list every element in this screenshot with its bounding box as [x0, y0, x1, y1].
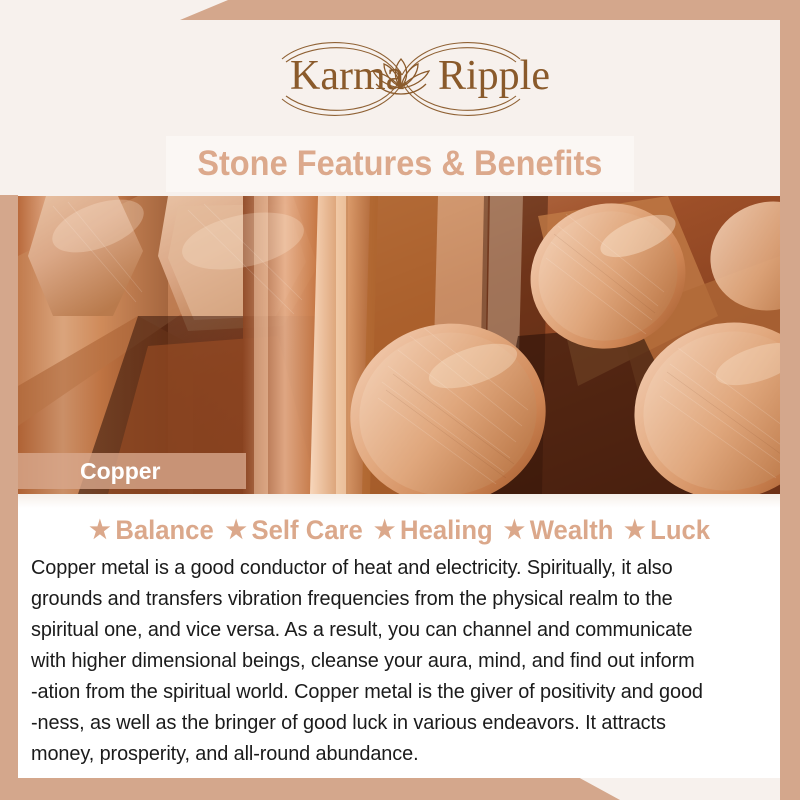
feature-label: Self Care [251, 515, 362, 546]
features-row: ★ Balance ★ Self Care ★ Healing ★ Wealth… [18, 508, 780, 552]
frame-bottom-diagonal [0, 778, 620, 800]
feature-self-care: ★ Self Care [221, 515, 363, 546]
description-line: spiritual one, and vice versa. As a resu… [31, 614, 749, 645]
feature-label: Luck [650, 515, 710, 546]
frame-top-diagonal [0, 0, 800, 20]
feature-label: Balance [115, 515, 213, 546]
photo-artwork [18, 196, 780, 494]
frame-left-border [0, 195, 18, 785]
feature-wealth: ★ Wealth [499, 515, 613, 546]
feature-label: Healing [400, 515, 493, 546]
copper-bars-photo [18, 196, 780, 494]
star-icon: ★ [89, 518, 110, 543]
feature-healing: ★ Healing [370, 515, 493, 546]
brand-name-right: Ripple [438, 53, 550, 99]
description-line: -ness, as well as the bringer of good lu… [31, 707, 749, 738]
description-line: grounds and transfers vibration frequenc… [31, 583, 749, 614]
panel-top-fade [18, 494, 780, 508]
description-line: -ation from the spiritual world. Copper … [31, 676, 749, 707]
photo-caption-label: Copper [18, 458, 161, 485]
content-panel: ★ Balance ★ Self Care ★ Healing ★ Wealth… [18, 494, 780, 778]
feature-luck: ★ Luck [619, 515, 710, 546]
star-icon: ★ [374, 518, 395, 543]
feature-balance: ★ Balance [89, 515, 213, 546]
star-icon: ★ [624, 518, 645, 543]
title-banner: Stone Features & Benefits [166, 136, 634, 192]
brand-logo: Karma Ripple [0, 24, 800, 134]
star-icon: ★ [225, 518, 246, 543]
star-icon: ★ [504, 518, 525, 543]
description-line: Copper metal is a good conductor of heat… [31, 552, 749, 583]
description-text: Copper metal is a good conductor of heat… [31, 552, 771, 769]
brand-name-left: Karma [290, 53, 405, 99]
description-line: money, prosperity, and all-round abundan… [31, 738, 749, 769]
photo-caption-bar: Copper [18, 453, 246, 489]
page-title: Stone Features & Benefits [197, 144, 602, 184]
logo-artwork: Karma Ripple [190, 29, 610, 129]
feature-label: Wealth [530, 515, 614, 546]
description-line: with higher dimensional beings, cleanse … [31, 645, 749, 676]
infographic-page: Karma Ripple Stone Features & Benefits [0, 0, 800, 800]
